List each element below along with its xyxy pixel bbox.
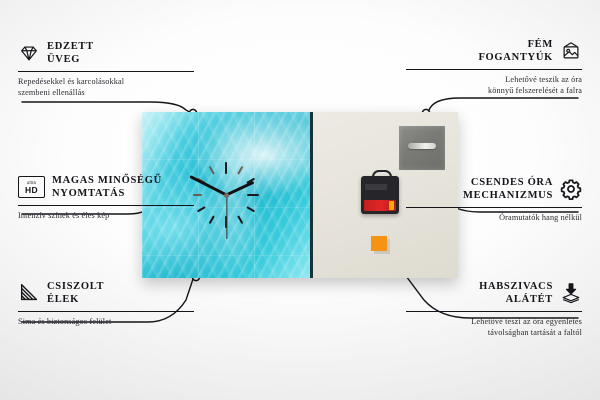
clock-front-face — [142, 112, 313, 278]
feature-title: FÉMFOGANTYÚK — [478, 38, 553, 65]
feature-title: CSENDES ÓRAMECHANIZMUS — [463, 176, 553, 203]
metal-hanger-bracket — [399, 126, 445, 170]
connector-handles — [428, 98, 578, 112]
feature-divider — [406, 207, 582, 208]
mechanism-loop — [372, 170, 392, 181]
feature-description: Repedésekkel és karcolásokkalszembeni el… — [18, 76, 194, 99]
feature-title: HABSZIVACSALÁTÉT — [479, 280, 553, 307]
feature-metal-handles: FÉMFOGANTYÚK Lehetővé teszik az órakönny… — [406, 38, 582, 97]
battery — [364, 200, 396, 211]
gear-icon — [560, 178, 582, 200]
feature-foam-pad: HABSZIVACSALÁTÉT Lehetővé teszi az óra e… — [406, 280, 582, 339]
feature-description: Lehetővé teszi az óra egyenletestávolság… — [406, 316, 582, 339]
feature-header: EDZETTÜVEG — [18, 40, 194, 67]
diamond-icon — [18, 42, 40, 64]
mechanism-slot — [365, 184, 387, 190]
infographic-stage: EDZETTÜVEG Repedésekkel és karcolásokkal… — [0, 0, 600, 400]
ultra-hd-icon: ultra HD — [18, 176, 45, 198]
second-hand — [226, 195, 227, 239]
feature-header: CSENDES ÓRAMECHANIZMUS — [406, 176, 582, 203]
feature-description: Lehetővé teszik az órakönnyű felszerelés… — [406, 74, 582, 97]
foam-pad-icon — [560, 282, 582, 304]
feature-title: EDZETTÜVEG — [47, 40, 94, 67]
feature-description: Sima és biztonságos felület — [18, 316, 194, 327]
clock-mechanism — [361, 176, 399, 214]
feature-divider — [406, 69, 582, 70]
feature-polished-edges: CSISZOLTÉLEK Sima és biztonságos felület — [18, 280, 194, 327]
feature-divider — [406, 311, 582, 312]
feature-silent-mechanism: CSENDES ÓRAMECHANIZMUS Óramutatók hang n… — [406, 176, 582, 223]
feature-tempered-glass: EDZETTÜVEG Repedésekkel és karcolásokkal… — [18, 40, 194, 99]
feature-header: HABSZIVACSALÁTÉT — [406, 280, 582, 307]
clock-center-pin — [224, 193, 229, 198]
feature-divider — [18, 71, 194, 72]
feature-title: CSISZOLTÉLEK — [47, 280, 104, 307]
feature-header: CSISZOLTÉLEK — [18, 280, 194, 307]
clock-dial — [142, 112, 310, 278]
feature-divider — [18, 311, 194, 312]
polished-edge-icon — [18, 282, 40, 304]
picture-hanger-icon — [560, 40, 582, 62]
feature-header: FÉMFOGANTYÚK — [406, 38, 582, 65]
feature-description: Óramutatók hang nélkül — [406, 212, 582, 223]
foam-pad — [371, 236, 387, 251]
